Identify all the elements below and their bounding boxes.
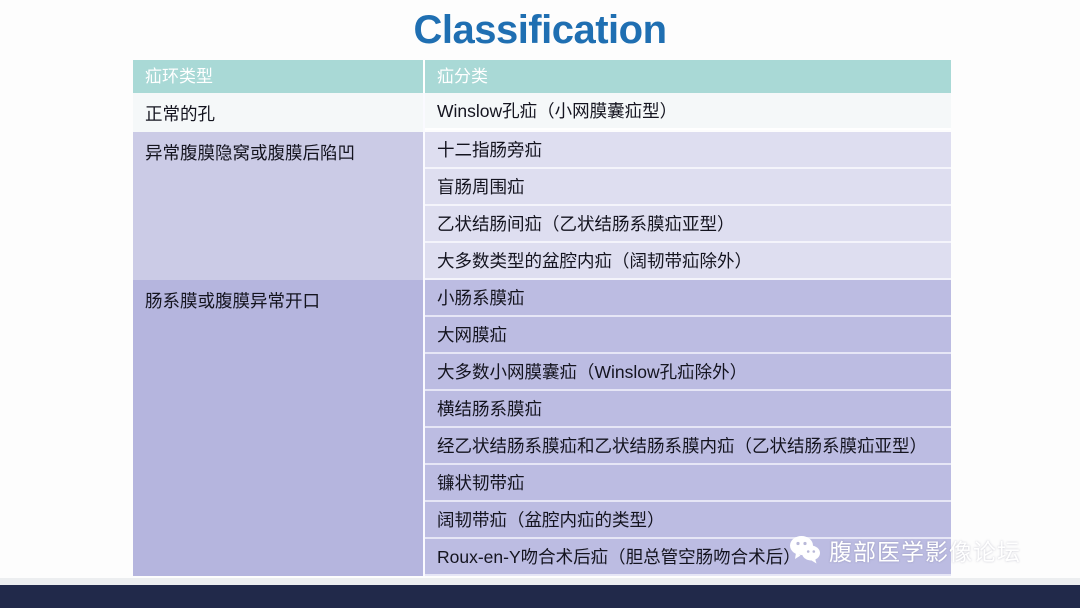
table-row: 横结肠系膜疝: [425, 391, 951, 428]
group-items: Winslow孔疝（小网膜囊疝型）: [425, 93, 951, 132]
classification-table: 疝环类型 疝分类 正常的孔 Winslow孔疝（小网膜囊疝型） 异常腹膜隐窝或腹…: [133, 60, 951, 576]
table-row: 大多数类型的盆腔内疝（阔韧带疝除外）: [425, 243, 951, 280]
table-group-abnormal-peritoneal-fossa: 异常腹膜隐窝或腹膜后陷凹 十二指肠旁疝 盲肠周围疝 乙状结肠间疝（乙状结肠系膜疝…: [133, 132, 951, 280]
column-header-hernia-ring-type: 疝环类型: [133, 60, 425, 93]
table-row: Winslow孔疝（小网膜囊疝型）: [425, 93, 951, 130]
table-row: 乙状结肠间疝（乙状结肠系膜疝亚型）: [425, 206, 951, 243]
table-row: 小肠系膜疝: [425, 280, 951, 317]
table-group-normal-foramen: 正常的孔 Winslow孔疝（小网膜囊疝型）: [133, 93, 951, 132]
table-row: 经乙状结肠系膜疝和乙状结肠系膜内疝（乙状结肠系膜疝亚型）: [425, 428, 951, 465]
table-header-row: 疝环类型 疝分类: [133, 60, 951, 93]
slide-canvas: Classification 疝环类型 疝分类 正常的孔 Winslow孔疝（小…: [0, 0, 1080, 608]
table-row: 盲肠周围疝: [425, 169, 951, 206]
group-items: 十二指肠旁疝 盲肠周围疝 乙状结肠间疝（乙状结肠系膜疝亚型） 大多数类型的盆腔内…: [425, 132, 951, 280]
table-group-abnormal-mesenteric-opening: 肠系膜或腹膜异常开口 小肠系膜疝 大网膜疝 大多数小网膜囊疝（Winslow孔疝…: [133, 280, 951, 576]
table-row: 大多数小网膜囊疝（Winslow孔疝除外）: [425, 354, 951, 391]
group-label: 肠系膜或腹膜异常开口: [133, 280, 425, 576]
table-row: Roux-en-Y吻合术后疝（胆总管空肠吻合术后）: [425, 539, 951, 576]
group-label: 异常腹膜隐窝或腹膜后陷凹: [133, 132, 425, 280]
page-title: Classification: [0, 6, 1080, 54]
table-row: 大网膜疝: [425, 317, 951, 354]
group-items: 小肠系膜疝 大网膜疝 大多数小网膜囊疝（Winslow孔疝除外） 横结肠系膜疝 …: [425, 280, 951, 576]
column-header-hernia-classification: 疝分类: [425, 60, 951, 93]
table-row: 十二指肠旁疝: [425, 132, 951, 169]
table-row: 镰状韧带疝: [425, 465, 951, 502]
table-row: 阔韧带疝（盆腔内疝的类型）: [425, 502, 951, 539]
bottom-strip: [0, 578, 1080, 585]
bottom-bar: [0, 585, 1080, 608]
group-label: 正常的孔: [133, 93, 425, 132]
